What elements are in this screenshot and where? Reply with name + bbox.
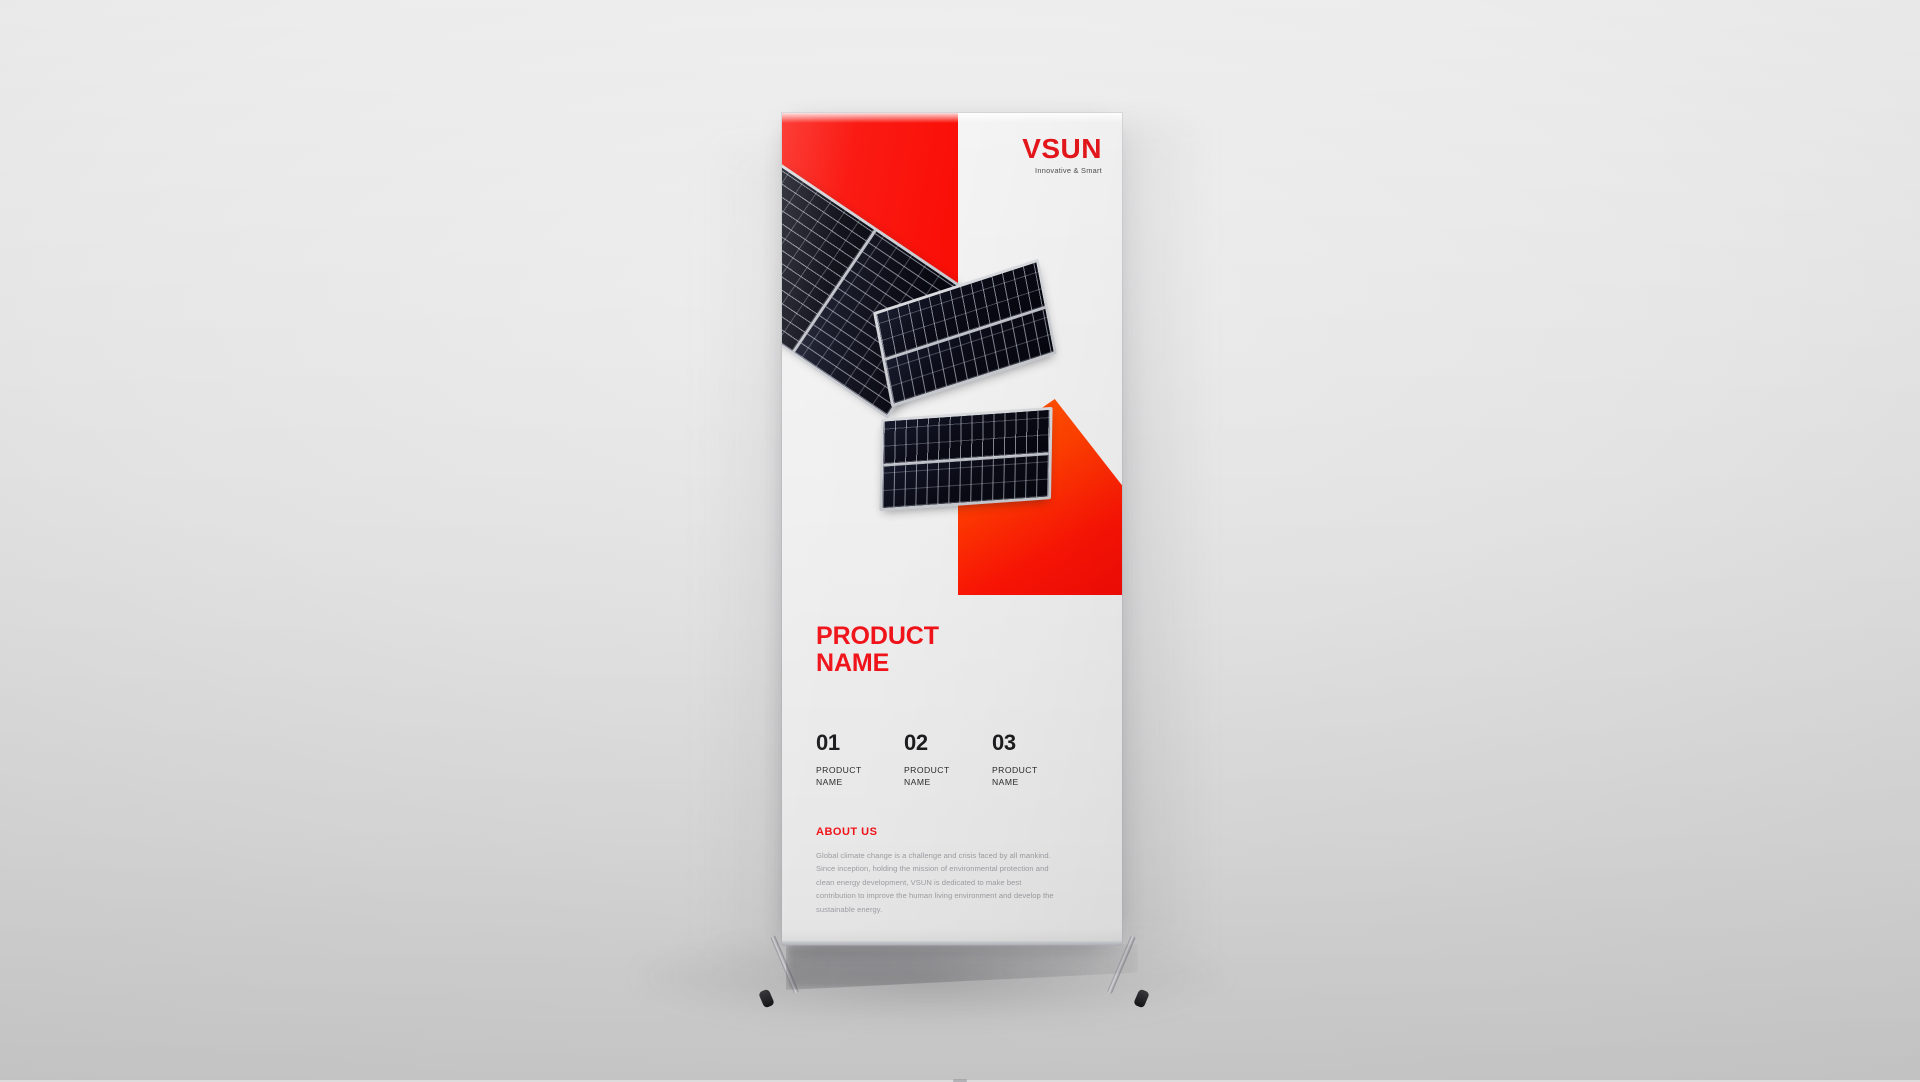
feature-label: PRODUCT NAME: [816, 764, 904, 788]
brand-logo: VSUN Innovative & Smart: [1022, 135, 1102, 174]
feature-label-line-1: PRODUCT: [904, 764, 992, 776]
roll-up-banner: VSUN Innovative & Smart PRODUCT NAME 01 …: [782, 113, 1122, 945]
floor-shadow: [640, 938, 1360, 1068]
feature-number: 01: [816, 732, 904, 754]
banner-bottom-rail: [782, 941, 1122, 945]
feature-label: PRODUCT NAME: [992, 764, 1080, 788]
feature-label-line-2: NAME: [992, 776, 1080, 788]
panel-frame: [879, 407, 1052, 511]
page-title-line-1: PRODUCT: [816, 623, 1092, 650]
feature-item-03: 03 PRODUCT NAME: [992, 732, 1080, 788]
logo-wordmark: VSUN: [1022, 135, 1102, 163]
feature-number: 03: [992, 732, 1080, 754]
stand-foot: [1133, 989, 1150, 1009]
feature-item-02: 02 PRODUCT NAME: [904, 732, 992, 788]
banner-content: PRODUCT NAME 01 PRODUCT NAME 02 PRODUCT …: [816, 623, 1092, 916]
banner-contact-shadow: [786, 944, 1138, 990]
panel-glass: [882, 410, 1049, 508]
about-body-text: Global climate change is a challenge and…: [816, 849, 1054, 917]
about-section: ABOUT US Global climate change is a chal…: [816, 826, 1092, 917]
stand-foot: [758, 989, 775, 1009]
about-heading: ABOUT US: [816, 826, 1092, 838]
feature-number: 02: [904, 732, 992, 754]
studio-scene: VSUN Innovative & Smart PRODUCT NAME 01 …: [0, 0, 1920, 1080]
page-title-line-2: NAME: [816, 650, 1092, 677]
backdrop-shadow-right: [1120, 120, 1210, 950]
feature-label-line-2: NAME: [904, 776, 992, 788]
feature-item-01: 01 PRODUCT NAME: [816, 732, 904, 788]
feature-label: PRODUCT NAME: [904, 764, 992, 788]
logo-tagline: Innovative & Smart: [1022, 167, 1102, 174]
page-title: PRODUCT NAME: [816, 623, 1092, 677]
feature-label-line-1: PRODUCT: [816, 764, 904, 776]
feature-list: 01 PRODUCT NAME 02 PRODUCT NAME 03: [816, 732, 1092, 788]
solar-panel-image-3: [879, 407, 1052, 511]
feature-label-line-2: NAME: [816, 776, 904, 788]
feature-label-line-1: PRODUCT: [992, 764, 1080, 776]
